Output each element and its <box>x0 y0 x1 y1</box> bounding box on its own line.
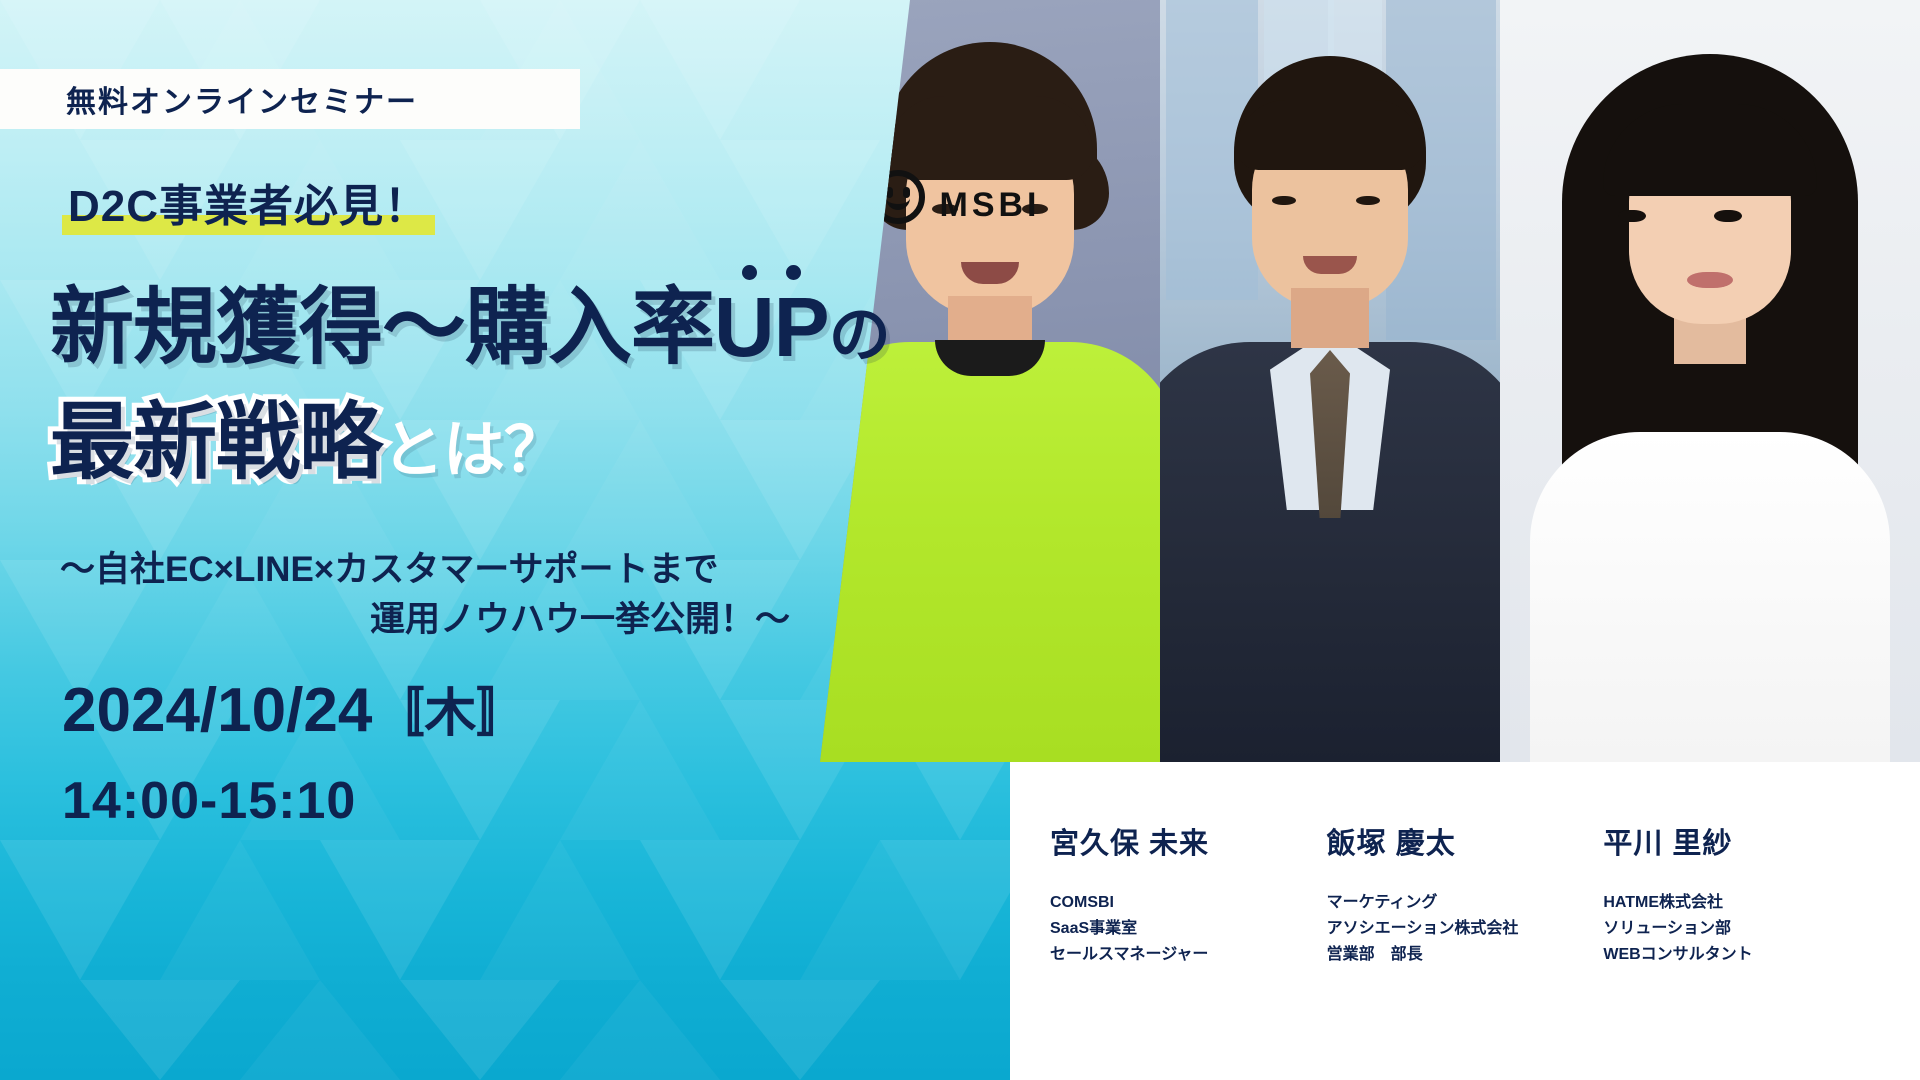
headline-line-2: 最新戦略とは？ <box>50 400 565 484</box>
headline-line-2-part-a: 最新戦略 <box>50 395 382 489</box>
free-seminar-ribbon: 無料オンラインセミナー <box>0 69 580 129</box>
speaker-panel: 宮久保 未来 COMSBI SaaS事業室 セールスマネージャー 飯塚 慶太 マ… <box>1010 762 1920 1080</box>
headline-up-emphasis: UP <box>714 285 829 369</box>
photo1-fringe <box>887 96 1093 180</box>
speaker-affiliation-line: 営業部 部長 <box>1327 942 1586 968</box>
speaker-card-2: 飯塚 慶太 マーケティング アソシエーション株式会社 営業部 部長 <box>1327 820 1604 1080</box>
photo3-mouth <box>1687 272 1733 288</box>
seminar-banner: MSBI <box>0 0 1920 1080</box>
speaker-affiliation-line: HATME株式会社 <box>1603 890 1862 916</box>
speaker-card-3: 平川 里紗 HATME株式会社 ソリューション部 WEBコンサルタント <box>1603 820 1880 1080</box>
speaker-name: 飯塚 慶太 <box>1327 820 1586 862</box>
photo2-neck <box>1291 288 1369 348</box>
speaker-photo-strip: MSBI <box>820 0 1920 762</box>
kicker-text: D2C事業者必見！ <box>66 185 431 229</box>
event-date-value: 2024/10/24 <box>62 676 372 745</box>
headline-line-1-part-a: 新規獲得〜購入率 <box>50 280 714 374</box>
headline-up-text: UP <box>714 280 829 374</box>
speaker-affiliation-line: SaaS事業室 <box>1050 916 1309 942</box>
speaker-affiliation-line: WEBコンサルタント <box>1603 942 1862 968</box>
photo1-shirt-logo: MSBI <box>940 186 1041 225</box>
speaker-name: 平川 里紗 <box>1603 820 1862 862</box>
subtitle-block: 〜自社EC×LINE×カスタマーサポートまで 運用ノウハウ一挙公開！〜 <box>60 545 800 644</box>
speaker-affiliation-line: セールスマネージャー <box>1050 942 1309 968</box>
ribbon-label: 無料オンラインセミナー <box>66 77 418 121</box>
headline-line-1: 新規獲得〜購入率UPの <box>50 285 890 369</box>
event-date: 2024/10/24〚木〛 <box>62 680 528 742</box>
speaker-affiliation-line: ソリューション部 <box>1603 916 1862 942</box>
photo3-top <box>1530 432 1890 762</box>
photo1-collar <box>935 340 1045 376</box>
speaker-affiliation-line: アソシエーション株式会社 <box>1327 916 1586 942</box>
headline-line-1-part-b: の <box>829 301 890 370</box>
photo2-fringe <box>1237 100 1423 170</box>
speaker-photo-3 <box>1500 0 1920 762</box>
headline-line-2-part-b: とは？ <box>382 416 565 485</box>
photo1-tshirt <box>820 342 1160 762</box>
event-time: 14:00-15:10 <box>62 775 356 827</box>
speaker-photo-2 <box>1160 0 1500 762</box>
speaker-name: 宮久保 未来 <box>1050 820 1309 862</box>
photo3-eye-left <box>1618 210 1646 222</box>
subtitle-line-1: 〜自社EC×LINE×カスタマーサポートまで <box>60 545 800 595</box>
photo3-eye-right <box>1714 210 1742 222</box>
speaker-card-1: 宮久保 未来 COMSBI SaaS事業室 セールスマネージャー <box>1050 820 1327 1080</box>
photo2-eye-left <box>1272 196 1296 205</box>
speaker-affiliation-line: マーケティング <box>1327 890 1586 916</box>
subtitle-line-2: 運用ノウハウ一挙公開！〜 <box>60 595 800 645</box>
speaker-affiliation-line: COMSBI <box>1050 890 1309 916</box>
event-date-dayofweek: 〚木〛 <box>372 685 528 743</box>
photo2-eye-right <box>1356 196 1380 205</box>
kicker-highlighted: D2C事業者必見！ <box>66 185 431 229</box>
